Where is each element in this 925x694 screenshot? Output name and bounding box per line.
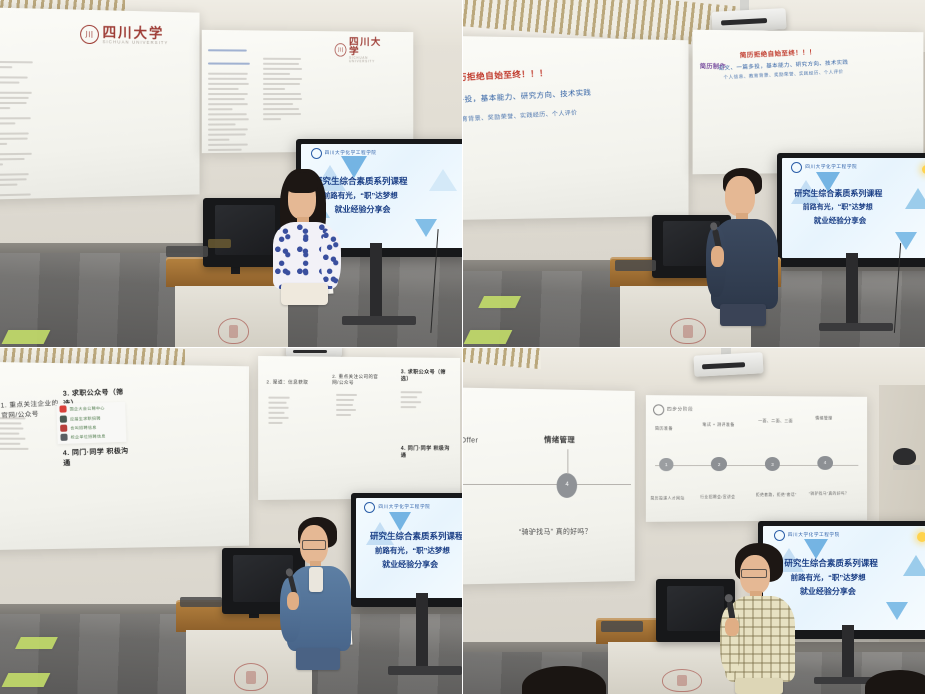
- timeline-top-label-1: 简历准备: [655, 425, 673, 431]
- lectern-emblem-icon: [662, 669, 702, 692]
- slide-doc-col1: [209, 60, 252, 154]
- timeline-bottom-label-3: 拒绝套路，拒绝“套话”: [756, 493, 797, 498]
- collage-panel-top-right[interactable]: 禁止吸烟 简历拒绝自始至终！！！ 论文、一篇多投，基本能力、研究方向、技术实践 …: [462, 0, 925, 347]
- desk-clutter: [615, 260, 657, 270]
- head: [725, 176, 755, 216]
- tv-stand: [416, 593, 428, 669]
- tv-org-logo: 四川大学化学工程学院: [364, 502, 430, 513]
- tv-banner-line3: 就业经验分享会: [370, 559, 462, 570]
- timeline-top-label-3: 一面、二面、三面: [758, 418, 793, 424]
- tv-org-logo: 四川大学化学工程学院: [774, 530, 840, 541]
- hair-fringe: [286, 172, 318, 193]
- university-seal-icon: 川: [79, 25, 98, 44]
- org-seal-icon: [791, 162, 802, 173]
- desk-clutter-2: [208, 239, 231, 247]
- list-icon-2: [59, 415, 67, 422]
- tv-screen-content: 四川大学化学工程学院 研究生综合素质系列课程 前路有光，“职”达梦想 就业经验分…: [782, 158, 925, 259]
- conference-camera: [893, 448, 916, 465]
- tv-display: 四川大学化学工程学院 研究生综合素质系列课程 前路有光，“职”达梦想 就业经验分…: [351, 493, 462, 608]
- camera-bracket: [893, 465, 921, 470]
- slide-body-text: [0, 58, 35, 201]
- projection-screen-left: 1. 重点关注企业的官网/公众号 3. 求职公众号（筛选） 4. 同门·同学 积…: [0, 362, 249, 551]
- sichuan-university-logo-2: 川 四川大学 SICHUAN UNIVERSITY: [335, 36, 390, 63]
- hand: [711, 246, 724, 267]
- tv-org-name: 四川大学化学工程学院: [378, 504, 430, 510]
- collage-panel-bottom-left[interactable]: 禁止吸烟 1. 重点关注企业的官网/公众号 3. 求职公众号（筛选） 4. 同门…: [0, 347, 462, 694]
- tv-banner-line2: 前路有光，“职”达梦想: [370, 545, 462, 556]
- glasses-icon: [302, 540, 326, 550]
- speaker-man-navy: [707, 167, 786, 327]
- glasses-icon: [741, 569, 766, 578]
- slide-r-col2: [336, 391, 364, 419]
- university-name-cn-2: 四川大学: [349, 36, 390, 56]
- list-icon-1: [59, 406, 67, 413]
- projection-screen-right: 川 四川大学 SICHUAN UNIVERSITY: [202, 30, 413, 154]
- speaker-woman-denim: [282, 517, 361, 670]
- slide-r-item-4: 4. 同门·同学 积极沟通: [401, 445, 453, 459]
- lower-garment: [720, 304, 766, 326]
- slide-line-small: 个人信息、教育背景、奖励荣誉、实践经历、个人评价: [462, 107, 577, 125]
- tv-base: [388, 666, 462, 674]
- hand: [725, 618, 738, 636]
- desk-clutter: [180, 597, 222, 607]
- slide-text-1: 一面、二面、Offer: [462, 434, 478, 445]
- timeline-node-4: 4: [818, 456, 833, 470]
- slide-doc-title: [209, 46, 257, 55]
- tv-banner-line2: 前路有光，“职”达梦想: [794, 202, 925, 212]
- projection-screen-right: 2. 渠道：信息获取 2. 重点关注公司的官网/公众号 3. 求职公众号（筛选）…: [258, 356, 460, 500]
- tv-screen-content: 四川大学化学工程学院 研究生综合素质系列课程 前路有光，“职”达梦想 就业经验分…: [356, 498, 462, 599]
- collage-panel-bottom-right[interactable]: 一面、二面、Offer 情绪管理 3. 拒绝“套路” “骑驴找马” 真的好吗？ …: [462, 347, 925, 694]
- tv-org-name: 四川大学化学工程学院: [788, 532, 840, 538]
- timeline-top-label-4: 情绪管理: [815, 415, 832, 421]
- lower-garment: [735, 678, 783, 694]
- list-icon-3: [59, 425, 67, 432]
- arm: [321, 230, 341, 286]
- tv-banner-line3: 就业经验分享会: [794, 215, 925, 226]
- list-label-1: 国企大会公聘中心: [69, 406, 104, 413]
- slide-doc-col2: [263, 55, 306, 124]
- slide-left-col: [0, 415, 36, 454]
- tv-stand: [846, 253, 858, 326]
- org-seal-icon: [311, 148, 322, 159]
- timeline-bottom-label-1: 简历投递人才网站: [651, 496, 685, 501]
- timeline-bottom-label-2: 行业招聘会/宣讲会: [700, 494, 735, 499]
- slide-r-item-3: 3. 求职公众号（筛选）: [401, 369, 453, 383]
- lectern-emblem-icon: [234, 663, 269, 690]
- tv-org-logo: 四川大学化学工程学院: [791, 162, 857, 173]
- floor-accent-tile: [1, 330, 49, 344]
- floor-accent-tile-2: [463, 330, 511, 344]
- university-name-en: SICHUAN UNIVERSITY: [102, 40, 168, 46]
- inner-shirt: [309, 567, 323, 591]
- slide-headline: 简历拒绝自始至终！！！: [462, 67, 548, 84]
- floor-accent-tile: [477, 296, 520, 308]
- slide-label: 四步分阶段: [667, 406, 693, 412]
- tv-org-logo: 四川大学化学工程学院: [311, 148, 377, 159]
- timeline-node-4: 4: [557, 472, 578, 497]
- university-seal-icon-2: 川: [335, 43, 347, 56]
- university-name-en-2: SICHUAN UNIVERSITY: [349, 56, 390, 63]
- timeline-node-2: 2: [712, 457, 728, 471]
- tv-base: [819, 323, 893, 331]
- tv-banner-line3: 就业经验分享会: [784, 586, 925, 597]
- desk-clutter: [166, 246, 208, 256]
- tv-banner-text: 研究生综合素质系列课程 前路有光，“职”达梦想 就业经验分享会: [784, 557, 925, 597]
- lectern-emblem-icon: [218, 318, 249, 345]
- org-seal-icon: [364, 502, 375, 513]
- projection-screen-left: 简历拒绝自始至终！！！ 论文、一篇多投，基本能力、研究方向、技术实践 个人信息、…: [462, 36, 689, 221]
- list-icon-4: [60, 434, 68, 441]
- list-label-2: 应届生求职招聘: [69, 415, 100, 422]
- tv-banner-line1: 研究生综合素质系列课程: [370, 530, 462, 542]
- tv-banner-text: 研究生综合素质系列课程 前路有光，“职”达梦想 就业经验分享会: [370, 530, 462, 570]
- ceiling-projector: [693, 352, 763, 376]
- lower-garment: [281, 283, 328, 305]
- slide-line-small-2: 个人信息、教育背景、奖励荣誉、实践经历、个人评价: [723, 70, 843, 82]
- timeline-axis: [462, 484, 631, 485]
- slide-item-4: 4. 同门·同学 积极沟通: [62, 446, 131, 468]
- slide-line-blue: 论文、一篇多投，基本能力、研究方向、技术实践: [462, 87, 592, 108]
- list-label-3: 也叫招聘信息: [70, 425, 97, 432]
- projection-screen-left: 川 四川大学 SICHUAN UNIVERSITY: [0, 8, 199, 201]
- tv-banner-line2: 前路有光，“职”达梦想: [784, 572, 925, 583]
- lower-garment: [296, 648, 340, 669]
- tv-display: 四川大学化学工程学院 研究生综合素质系列课程 前路有光，“职”达梦想 就业经验分…: [777, 153, 925, 268]
- tv-base: [342, 316, 416, 325]
- floor-accent-tile: [16, 637, 59, 649]
- collage-divider-horizontal: [0, 347, 925, 348]
- slide-r-item-1: 2. 渠道：信息获取: [266, 380, 308, 386]
- slide-list-card: 国企大会公聘中心 应届生求职招聘 也叫招聘信息 校企单位招聘信息: [56, 402, 126, 445]
- desk-clutter: [601, 621, 643, 631]
- slide-text-2: 情绪管理: [544, 433, 575, 444]
- tv-banner-line1: 研究生综合素质系列课程: [794, 188, 925, 199]
- tv-org-name: 四川大学化学工程学院: [325, 150, 377, 156]
- tv-org-name: 四川大学化学工程学院: [805, 164, 857, 170]
- timeline-bottom-label-4: “骑驴找马”真的好吗？: [809, 491, 849, 496]
- timeline-top-label-2: 笔试 + 测评准备: [703, 422, 735, 428]
- list-label-4: 校企单位招聘信息: [70, 434, 105, 441]
- tv-stand: [370, 243, 382, 319]
- projection-screen-right: 四步分阶段 1 2 3 4 简历准备 笔试 + 测评准备 一面、二面、三面 情绪…: [646, 395, 867, 522]
- slide-r-col3: [401, 389, 429, 412]
- hand: [287, 592, 300, 610]
- tv-banner-line1: 研究生综合素质系列课程: [784, 557, 925, 569]
- slide-seal-icon: [653, 404, 664, 415]
- floor-accent-tile-2: [1, 673, 49, 687]
- tv-banner-text: 研究生综合素质系列课程 前路有光，“职”达梦想 就业经验分享会: [794, 188, 925, 226]
- tv-stand: [842, 625, 854, 681]
- collage-panel-top-left[interactable]: 禁止吸烟 川 四川大学 SICHUAN UNIVERSITY: [0, 0, 462, 347]
- lectern-emblem-icon: [670, 318, 706, 345]
- speaker-check-shirt: [721, 545, 804, 694]
- slide-text-4: “骑驴找马” 真的好吗？: [519, 526, 592, 537]
- sun-icon: [917, 532, 925, 542]
- slide-brand: 四步分阶段: [653, 404, 694, 415]
- slide-r-item-2: 2. 重点关注公司的官网/公众号: [332, 374, 385, 386]
- timeline-node-1: 1: [660, 458, 674, 471]
- org-seal-icon: [774, 530, 785, 541]
- photo-collage: 禁止吸烟 川 四川大学 SICHUAN UNIVERSITY: [0, 0, 925, 694]
- sichuan-university-logo: 川 四川大学 SICHUAN UNIVERSITY: [79, 25, 168, 45]
- slide-r-col1: [268, 394, 297, 427]
- projection-screen-left: 一面、二面、Offer 情绪管理 3. 拒绝“套路” “骑驴找马” 真的好吗？ …: [462, 387, 635, 586]
- slide-headline-2: 简历拒绝自始至终！！！: [739, 46, 816, 59]
- speaker-woman-floral: [268, 167, 351, 306]
- timeline-node-3: 3: [765, 457, 780, 471]
- node-tick-up: [567, 449, 568, 474]
